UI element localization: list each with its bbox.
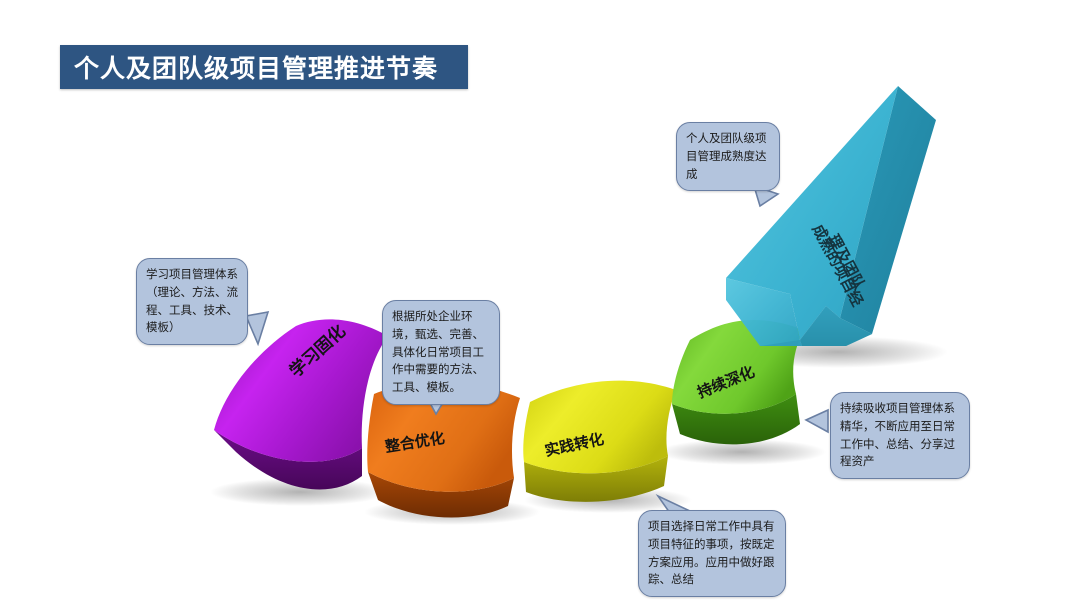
callout-goal[interactable]: 个人及团队级项目管理成熟度达成 xyxy=(676,122,780,191)
callout-practice-text: 项目选择日常工作中具有项目特征的事项，按既定方案应用。应用中做好跟踪、总结 xyxy=(648,519,775,586)
step-block-1[interactable]: 学习固化 xyxy=(214,319,388,489)
slide-canvas: 个人及团队级项目管理推进节奏 xyxy=(0,0,1080,608)
callout-deepen-text: 持续吸收项目管理体系精华，不断应用至日常工作中、总结、分享过程资产 xyxy=(840,401,955,468)
callout-integrate[interactable]: 根据所处企业环境，甄选、完善、具体化日常项目工作中需要的方法、工具、模板。 xyxy=(382,300,500,405)
step-block-3[interactable]: 实践转化 xyxy=(523,381,676,502)
callout-learn-tail xyxy=(246,312,268,344)
callout-learn[interactable]: 学习项目管理体系（理论、方法、流程、工具、技术、模板） xyxy=(136,258,248,345)
callout-goal-text: 个人及团队级项目管理成熟度达成 xyxy=(686,131,767,181)
callout-deepen[interactable]: 持续吸收项目管理体系精华，不断应用至日常工作中、总结、分享过程资产 xyxy=(830,392,970,479)
callout-deepen-tail xyxy=(806,410,828,432)
callout-learn-text: 学习项目管理体系（理论、方法、流程、工具、技术、模板） xyxy=(146,267,238,334)
callout-integrate-text: 根据所处企业环境，甄选、完善、具体化日常项目工作中需要的方法、工具、模板。 xyxy=(392,309,484,394)
callout-practice[interactable]: 项目选择日常工作中具有项目特征的事项，按既定方案应用。应用中做好跟踪、总结 xyxy=(638,510,786,597)
